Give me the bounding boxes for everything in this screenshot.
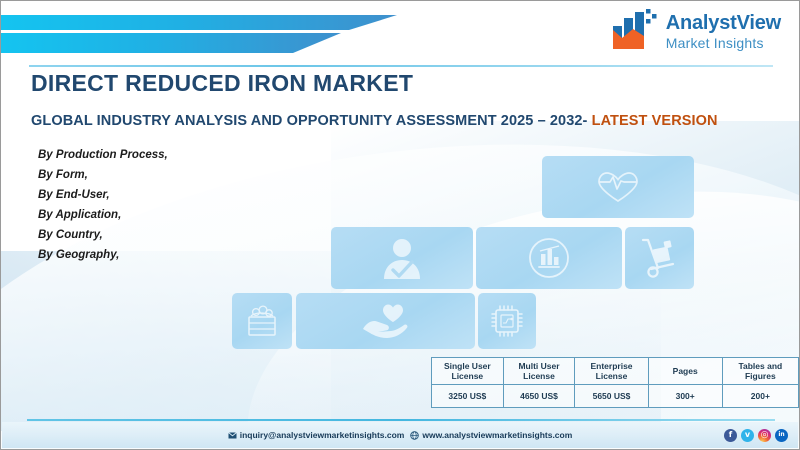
- table-header-cell: Pages: [648, 358, 722, 385]
- microchip-tile: [478, 293, 536, 349]
- logo-tagline: Market Insights: [666, 36, 781, 50]
- crate-icon: [245, 304, 279, 338]
- slide-canvas: AnalystView Market Insights DIRECT REDUC…: [0, 0, 800, 450]
- footer-contact: inquiry@analystviewmarketinsights.com ww…: [2, 430, 798, 440]
- brand-logo: AnalystView Market Insights: [613, 9, 781, 54]
- linkedin-icon[interactable]: in: [775, 429, 788, 442]
- facebook-icon[interactable]: f: [724, 429, 737, 442]
- globe-icon: [410, 431, 419, 440]
- segment-item: By Form,: [38, 165, 168, 185]
- subtitle-main: GLOBAL INDUSTRY ANALYSIS AND OPPORTUNITY…: [31, 113, 587, 129]
- envelope-icon: [228, 432, 237, 439]
- logo-name: AnalystView: [666, 13, 781, 33]
- footer-website[interactable]: www.analystviewmarketinsights.com: [410, 430, 572, 440]
- segment-item: By Country,: [38, 225, 168, 245]
- social-links: fᴠ◎in: [724, 429, 788, 442]
- table-header-row: Single UserLicense Multi UserLicense Ent…: [432, 358, 799, 385]
- person-check-icon: [382, 237, 422, 279]
- footer-email-text: inquiry@analystviewmarketinsights.com: [240, 430, 405, 440]
- title-divider: [29, 65, 773, 67]
- segment-list: By Production Process,By Form,By End-Use…: [38, 145, 168, 265]
- page-title: DIRECT REDUCED IRON MARKET: [31, 70, 413, 97]
- hand-truck-icon: [639, 238, 681, 278]
- heartbeat-tile: [542, 156, 694, 218]
- segment-item: By Geography,: [38, 245, 168, 265]
- twitter-icon[interactable]: ᴠ: [741, 429, 754, 442]
- table-cell-single-user-price: 3250 US$: [432, 385, 504, 408]
- table-header-cell: EnterpriseLicense: [575, 358, 648, 385]
- subtitle-latest-version: LATEST VERSION: [592, 113, 718, 129]
- segment-item: By Application,: [38, 205, 168, 225]
- table-value-row: 3250 US$ 4650 US$ 5650 US$ 300+ 200+: [432, 385, 799, 408]
- bar-chart-logo-icon: [613, 9, 659, 54]
- table-cell-pages: 300+: [648, 385, 722, 408]
- chart-circle-tile: [476, 227, 622, 289]
- table-cell-enterprise-price: 5650 US$: [575, 385, 648, 408]
- microchip-icon: [489, 303, 525, 339]
- person-check-tile: [331, 227, 473, 289]
- table-header-cell: Tables andFigures: [722, 358, 798, 385]
- table-cell-multi-user-price: 4650 US$: [503, 385, 575, 408]
- footer-divider: [27, 419, 775, 421]
- hand-heart-icon: [361, 302, 411, 340]
- footer-website-text: www.analystviewmarketinsights.com: [422, 430, 572, 440]
- header-ribbon: [1, 15, 471, 53]
- footer-bar: inquiry@analystviewmarketinsights.com ww…: [2, 422, 798, 448]
- footer-email[interactable]: inquiry@analystviewmarketinsights.com: [228, 430, 405, 440]
- hand-truck-tile: [625, 227, 694, 289]
- table-header-cell: Single UserLicense: [432, 358, 504, 385]
- pricing-table: Single UserLicense Multi UserLicense Ent…: [431, 357, 799, 408]
- heartbeat-icon: [596, 170, 640, 204]
- page-subtitle: GLOBAL INDUSTRY ANALYSIS AND OPPORTUNITY…: [31, 113, 718, 129]
- segment-item: By Production Process,: [38, 145, 168, 165]
- hand-heart-tile: [296, 293, 475, 349]
- segment-item: By End-User,: [38, 185, 168, 205]
- chart-circle-icon: [528, 237, 570, 279]
- table-header-cell: Multi UserLicense: [503, 358, 575, 385]
- instagram-icon[interactable]: ◎: [758, 429, 771, 442]
- crate-tile: [232, 293, 292, 349]
- table-cell-tables-figures: 200+: [722, 385, 798, 408]
